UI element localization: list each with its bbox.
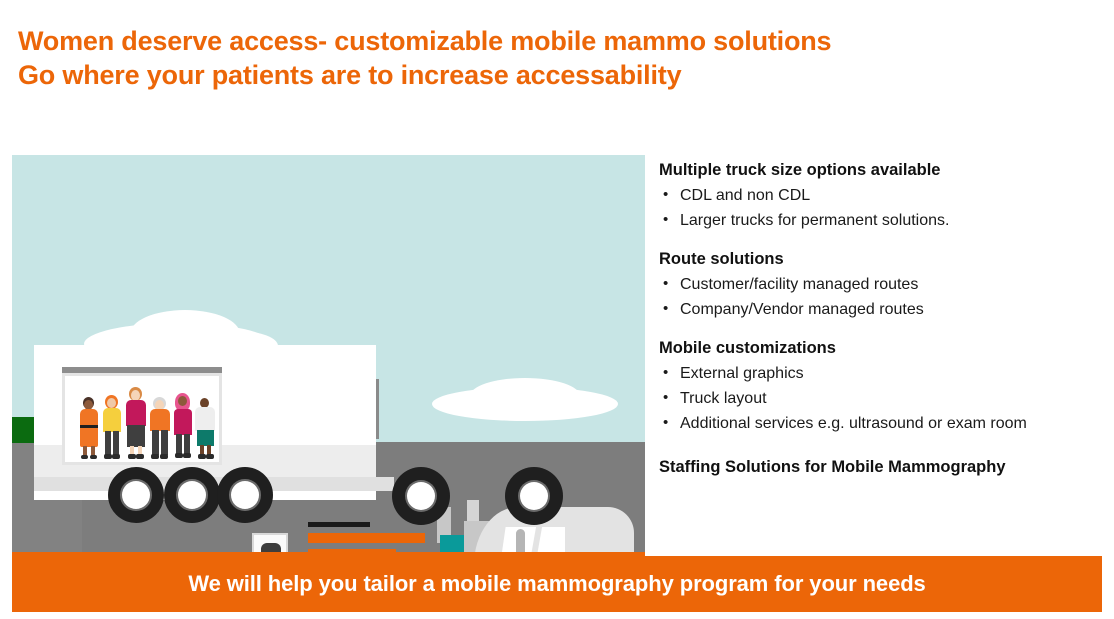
truck-wheel-rim bbox=[178, 481, 206, 509]
woman-white-top bbox=[194, 393, 216, 459]
woman-orange-dress bbox=[78, 397, 100, 459]
diverse-women-graphic bbox=[74, 379, 214, 459]
list-item: Company/Vendor managed routes bbox=[659, 297, 1107, 322]
title-line-2: Go where your patients are to increase a… bbox=[18, 58, 1018, 92]
slide: Women deserve access- customizable mobil… bbox=[0, 0, 1114, 619]
woman-yellow-top bbox=[101, 395, 123, 459]
list-item: External graphics bbox=[659, 361, 1107, 386]
bullet-list: CDL and non CDL Larger trucks for perman… bbox=[659, 183, 1107, 233]
section-truck-sizes: Multiple truck size options available CD… bbox=[659, 158, 1107, 233]
footer-banner-text: We will help you tailor a mobile mammogr… bbox=[188, 571, 925, 597]
woman-magenta-top bbox=[124, 387, 148, 459]
truck-wheel-rim bbox=[122, 481, 150, 509]
list-item: Customer/facility managed routes bbox=[659, 272, 1107, 297]
cloud-icon bbox=[470, 378, 580, 414]
footer-banner: We will help you tailor a mobile mammogr… bbox=[12, 556, 1102, 612]
section-heading: Mobile customizations bbox=[659, 336, 1107, 360]
page-title: Women deserve access- customizable mobil… bbox=[18, 24, 1018, 92]
list-item: Larger trucks for permanent solutions. bbox=[659, 208, 1107, 233]
graphic-bar-orange bbox=[308, 533, 425, 543]
woman-pink-hijab bbox=[172, 393, 194, 459]
graphic-bar-black bbox=[308, 522, 370, 527]
list-item: CDL and non CDL bbox=[659, 183, 1107, 208]
section-route-solutions: Route solutions Customer/facility manage… bbox=[659, 247, 1107, 322]
truck-wheel-rim bbox=[231, 481, 259, 509]
section-mobile-customizations: Mobile customizations External graphics … bbox=[659, 336, 1107, 436]
section-staffing-solutions: Staffing Solutions for Mobile Mammograph… bbox=[659, 455, 1107, 479]
list-item: Truck layout bbox=[659, 386, 1107, 411]
title-line-1: Women deserve access- customizable mobil… bbox=[18, 24, 1018, 58]
mobile-mammography-illustration bbox=[12, 155, 645, 556]
section-heading: Staffing Solutions for Mobile Mammograph… bbox=[659, 455, 1107, 479]
list-item: Additional services e.g. ultrasound or e… bbox=[659, 411, 1107, 436]
section-heading: Multiple truck size options available bbox=[659, 158, 1107, 182]
bullet-list: Customer/facility managed routes Company… bbox=[659, 272, 1107, 322]
bullet-list: External graphics Truck layout Additiona… bbox=[659, 361, 1107, 436]
truck-wheel-rim bbox=[407, 482, 435, 510]
section-heading: Route solutions bbox=[659, 247, 1107, 271]
feature-list: Multiple truck size options available CD… bbox=[659, 158, 1107, 493]
truck-wheel-rim bbox=[520, 482, 548, 510]
woman-orange-top bbox=[149, 397, 171, 459]
